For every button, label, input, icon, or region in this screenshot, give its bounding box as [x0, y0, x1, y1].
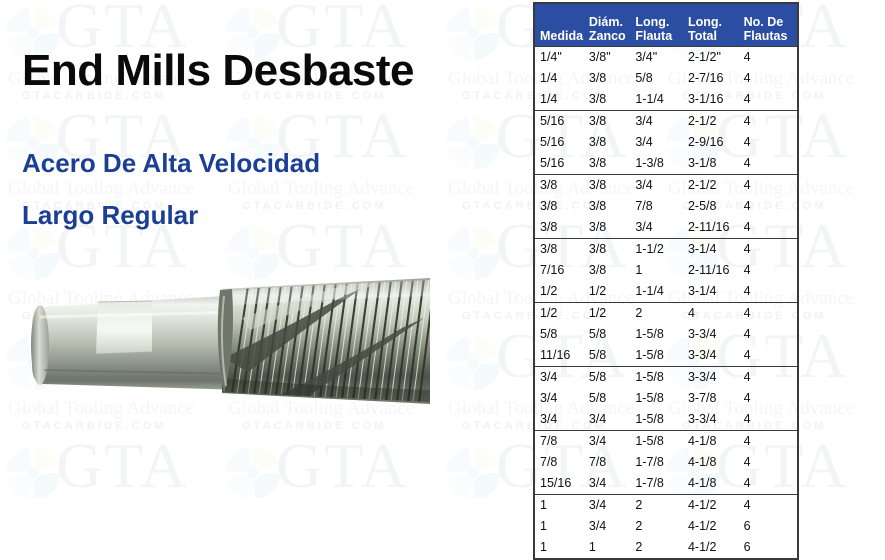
table-cell: 15/16: [535, 473, 587, 495]
table-cell: 6: [742, 516, 797, 537]
table-cell: 4: [742, 46, 797, 68]
table-cell: 3/4: [587, 430, 633, 452]
column-header-line2: Medida: [540, 29, 585, 43]
table-cell: 1-7/8: [633, 452, 686, 473]
watermark-tile: GTAGlobal Tooling AdvanceGTACARBIDE.COM: [880, 0, 885, 110]
table-cell: 5/8: [633, 68, 686, 89]
table-cell: 4: [686, 302, 742, 324]
table-cell: 3/8: [535, 238, 587, 260]
column-header-line2: Zanco: [589, 29, 631, 43]
table-cell: 5/16: [535, 110, 587, 132]
column-header-line1: Long.: [635, 15, 684, 29]
column-header-line2: Total: [688, 29, 740, 43]
table-cell: 1-1/4: [633, 89, 686, 111]
table-cell: 3/8: [587, 110, 633, 132]
table-cell: 3/8: [587, 132, 633, 153]
table-cell: 1-3/8: [633, 153, 686, 175]
table-row: 11/165/81-5/83-3/44: [535, 345, 797, 367]
table-cell: 2-5/8: [686, 196, 742, 217]
table-cell: 4: [742, 494, 797, 516]
subtitle-length: Largo Regular: [22, 200, 198, 231]
table-cell: 6: [742, 537, 797, 558]
table-cell: 3/8": [587, 46, 633, 68]
column-header-long-flauta: Long. Flauta: [633, 4, 686, 46]
table-header: Medida Diám. Zanco Long. Flauta Long. To…: [535, 4, 797, 46]
table-row: 3/83/83/42-1/24: [535, 174, 797, 196]
table-cell: 3/8: [535, 174, 587, 196]
table-cell: 3-1/8: [686, 153, 742, 175]
watermark-tile: GTAGlobal Tooling AdvanceGTACARBIDE.COM: [880, 110, 885, 220]
table-cell: 3/8: [587, 196, 633, 217]
table-cell: 3/8: [587, 238, 633, 260]
table-row: 1/43/85/82-7/164: [535, 68, 797, 89]
table-cell: 3-1/4: [686, 238, 742, 260]
table-cell: 2: [633, 302, 686, 324]
table-cell: 1-5/8: [633, 388, 686, 409]
table-cell: 1-1/2: [633, 238, 686, 260]
table-cell: 1/2: [587, 281, 633, 303]
table-cell: 2-1/2": [686, 46, 742, 68]
table-cell: 3/8: [535, 217, 587, 239]
table-cell: 1: [535, 537, 587, 558]
table-cell: 3/4: [535, 366, 587, 388]
table-cell: 3/4: [587, 494, 633, 516]
table-cell: 4: [742, 217, 797, 239]
table-cell: 4: [742, 110, 797, 132]
table-cell: 4: [742, 473, 797, 495]
table-row: 7/83/41-5/84-1/84: [535, 430, 797, 452]
table-cell: 4: [742, 345, 797, 367]
table-cell: 1: [633, 260, 686, 281]
table-cell: 3-7/8: [686, 388, 742, 409]
table-cell: 3-3/4: [686, 324, 742, 345]
table-cell: 2-7/16: [686, 68, 742, 89]
table-cell: 1-1/4: [633, 281, 686, 303]
table-cell: 4: [742, 366, 797, 388]
table-cell: 2-11/16: [686, 260, 742, 281]
table-cell: 1: [535, 494, 587, 516]
table-row: 5/163/83/42-1/24: [535, 110, 797, 132]
column-header-line1: Long.: [688, 15, 740, 29]
table-cell: 1-5/8: [633, 409, 686, 431]
table-row: 15/163/41-7/84-1/84: [535, 473, 797, 495]
table-row: 3/45/81-5/83-7/84: [535, 388, 797, 409]
table-row: 13/424-1/24: [535, 494, 797, 516]
table-cell: 1/4": [535, 46, 587, 68]
table-cell: 5/8: [535, 324, 587, 345]
column-header-line1: Diám.: [589, 15, 631, 29]
table-cell: 2-1/2: [686, 174, 742, 196]
table-cell: 7/8: [633, 196, 686, 217]
table-cell: 1-5/8: [633, 324, 686, 345]
table-cell: 4: [742, 238, 797, 260]
column-header-medida: Medida: [535, 4, 587, 46]
table-cell: 5/16: [535, 153, 587, 175]
table-row: 3/45/81-5/83-3/44: [535, 366, 797, 388]
table-cell: 5/8: [587, 345, 633, 367]
column-header-line2: Flauta: [635, 29, 684, 43]
table-cell: 3/4: [587, 473, 633, 495]
roughing-end-mill-image: [10, 262, 430, 422]
table-cell: 2-9/16: [686, 132, 742, 153]
subtitle-material: Acero De Alta Velocidad: [22, 148, 320, 179]
table-cell: 4: [742, 281, 797, 303]
table-cell: 4-1/8: [686, 473, 742, 495]
table-cell: 3/8: [587, 89, 633, 111]
table-body: 1/4"3/8"3/4"2-1/2"41/43/85/82-7/1641/43/…: [535, 46, 797, 558]
column-header-line2: Flautas: [744, 29, 795, 43]
table-row: 3/83/83/42-11/164: [535, 217, 797, 239]
table-cell: 3/4: [535, 388, 587, 409]
table-row: 3/83/81-1/23-1/44: [535, 238, 797, 260]
table-row: 3/83/87/82-5/84: [535, 196, 797, 217]
column-header-no-flautas: No. De Flautas: [742, 4, 797, 46]
table-cell: 1/4: [535, 68, 587, 89]
table-cell: 5/16: [535, 132, 587, 153]
table-cell: 4: [742, 452, 797, 473]
table-cell: 3/4: [633, 110, 686, 132]
table-cell: 2: [633, 516, 686, 537]
table-cell: 4: [742, 68, 797, 89]
page-title: End Mills Desbaste: [22, 46, 414, 96]
table-cell: 4-1/2: [686, 537, 742, 558]
table-cell: 1-5/8: [633, 430, 686, 452]
table-cell: 3/4: [633, 132, 686, 153]
table-header-row: Medida Diám. Zanco Long. Flauta Long. To…: [535, 4, 797, 46]
table-cell: 4: [742, 430, 797, 452]
table-cell: 3-3/4: [686, 409, 742, 431]
table-cell: 2-11/16: [686, 217, 742, 239]
table-cell: 3-1/16: [686, 89, 742, 111]
table-cell: 3-3/4: [686, 366, 742, 388]
table-cell: 4: [742, 409, 797, 431]
table-cell: 1/2: [535, 281, 587, 303]
table-cell: 3/4: [587, 516, 633, 537]
table-cell: 4: [742, 153, 797, 175]
table-cell: 4: [742, 388, 797, 409]
table-cell: 4: [742, 132, 797, 153]
table-cell: 1/2: [587, 302, 633, 324]
table-cell: 1: [535, 516, 587, 537]
left-content-panel: End Mills Desbaste Acero De Alta Velocid…: [0, 0, 533, 498]
table-row: 5/163/83/42-9/164: [535, 132, 797, 153]
table-cell: 4: [742, 174, 797, 196]
table-cell: 2-1/2: [686, 110, 742, 132]
specification-table: Medida Diám. Zanco Long. Flauta Long. To…: [535, 4, 797, 558]
table-cell: 1-5/8: [633, 366, 686, 388]
table-cell: 3/8: [587, 174, 633, 196]
watermark-tile: GTAGlobal Tooling AdvanceGTACARBIDE.COM: [880, 220, 885, 330]
table-cell: 7/8: [535, 430, 587, 452]
table-row: 13/424-1/26: [535, 516, 797, 537]
table-row: 7/87/81-7/84-1/84: [535, 452, 797, 473]
table-cell: 3/4: [535, 409, 587, 431]
table-row: 1124-1/26: [535, 537, 797, 558]
table-cell: 5/8: [587, 388, 633, 409]
table-cell: 4: [742, 260, 797, 281]
table-cell: 3/8: [587, 217, 633, 239]
table-cell: 4: [742, 302, 797, 324]
table-cell: 3/4: [633, 174, 686, 196]
table-cell: 4-1/8: [686, 430, 742, 452]
table-row: 5/85/81-5/83-3/44: [535, 324, 797, 345]
watermark-tile: GTAGlobal Tooling AdvanceGTACARBIDE.COM: [880, 440, 885, 498]
table-cell: 11/16: [535, 345, 587, 367]
watermark-tile: GTAGlobal Tooling AdvanceGTACARBIDE.COM: [880, 330, 885, 440]
table-cell: 7/8: [587, 452, 633, 473]
column-header-diam-zanco: Diám. Zanco: [587, 4, 633, 46]
table-cell: 3/4": [633, 46, 686, 68]
column-header-long-total: Long. Total: [686, 4, 742, 46]
table-row: 1/21/21-1/43-1/44: [535, 281, 797, 303]
table-row: 5/163/81-3/83-1/84: [535, 153, 797, 175]
table-cell: 3/4: [633, 217, 686, 239]
table-cell: 7/8: [535, 452, 587, 473]
table-cell: 5/8: [587, 324, 633, 345]
table-cell: 4-1/8: [686, 452, 742, 473]
column-header-line1: No. De: [744, 15, 795, 29]
table-cell: 7/16: [535, 260, 587, 281]
table-cell: 3-1/4: [686, 281, 742, 303]
table-cell: 3/8: [535, 196, 587, 217]
table-cell: 4: [742, 89, 797, 111]
table-cell: 3/8: [587, 260, 633, 281]
table-cell: 3/4: [587, 409, 633, 431]
table-row: 1/43/81-1/43-1/164: [535, 89, 797, 111]
table-row: 7/163/812-11/164: [535, 260, 797, 281]
table-row: 3/43/41-5/83-3/44: [535, 409, 797, 431]
table-cell: 1/4: [535, 89, 587, 111]
table-cell: 2: [633, 494, 686, 516]
table-cell: 1-5/8: [633, 345, 686, 367]
table-cell: 4: [742, 196, 797, 217]
table-cell: 3/8: [587, 68, 633, 89]
table-cell: 3-3/4: [686, 345, 742, 367]
table-cell: 3/8: [587, 153, 633, 175]
table-cell: 1: [587, 537, 633, 558]
table-cell: 1/2: [535, 302, 587, 324]
table-cell: 4: [742, 324, 797, 345]
table-row: 1/4"3/8"3/4"2-1/2"4: [535, 46, 797, 68]
table-row: 1/21/2244: [535, 302, 797, 324]
specification-table-container: Medida Diám. Zanco Long. Flauta Long. To…: [533, 2, 799, 560]
table-cell: 5/8: [587, 366, 633, 388]
table-cell: 1-7/8: [633, 473, 686, 495]
table-cell: 2: [633, 537, 686, 558]
table-cell: 4-1/2: [686, 516, 742, 537]
table-cell: 4-1/2: [686, 494, 742, 516]
